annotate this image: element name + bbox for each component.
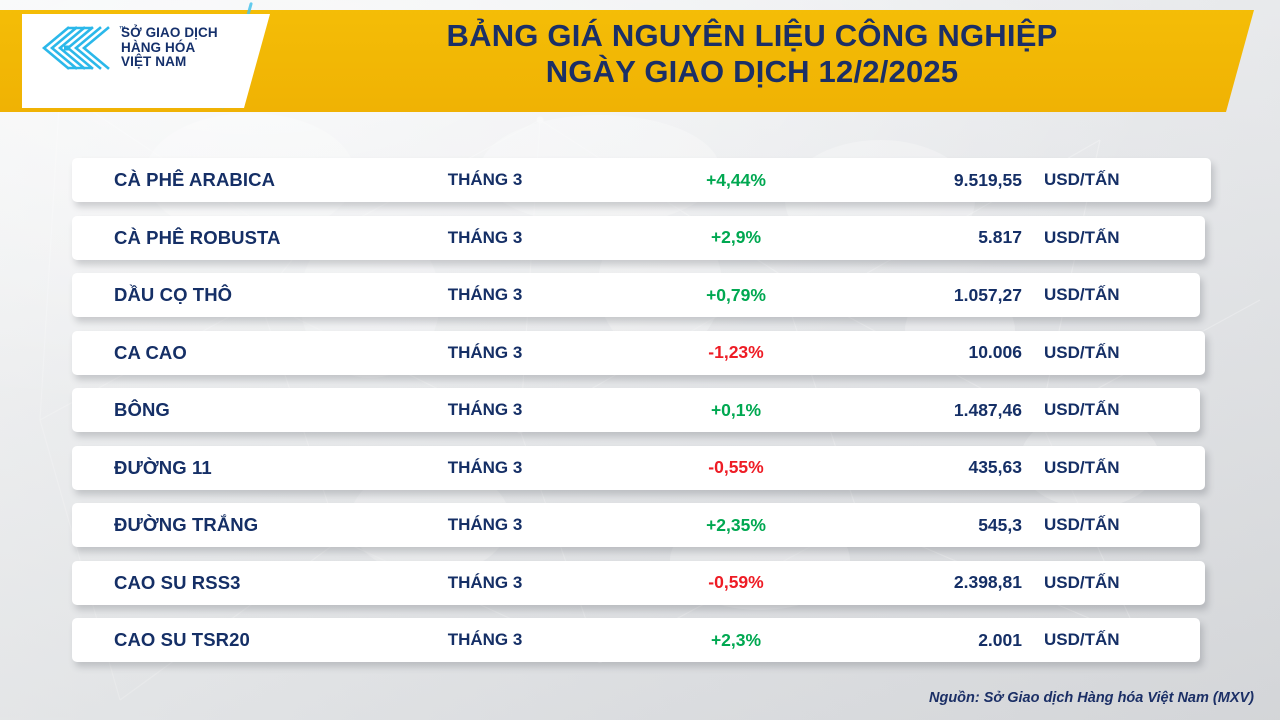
price-unit: USD/TẤN xyxy=(1044,515,1120,535)
contract-month: THÁNG 3 xyxy=(410,630,560,650)
header: ™ SỞ GIAO DỊCH HÀNG HÓA VIỆT NAM BẢNG GI… xyxy=(0,0,1280,122)
change-percent: +4,44% xyxy=(648,170,824,191)
commodity-name: CAO SU TSR20 xyxy=(114,629,250,651)
trademark-symbol: ™ xyxy=(119,26,126,33)
table-row[interactable]: BÔNGTHÁNG 3+0,1%1.487,46USD/TẤN xyxy=(72,388,1200,432)
price-value: 2.398,81 xyxy=(842,572,1022,593)
title-line-2: NGÀY GIAO DỊCH 12/2/2025 xyxy=(292,54,1212,90)
table-row[interactable]: CAO SU TSR20THÁNG 3+2,3%2.001USD/TẤN xyxy=(72,618,1200,662)
price-value: 1.487,46 xyxy=(842,400,1022,421)
change-percent: +2,9% xyxy=(648,227,824,248)
commodity-name: CA CAO xyxy=(114,342,187,364)
change-percent: -0,55% xyxy=(648,457,824,478)
commodity-name: ĐƯỜNG TRẮNG xyxy=(114,514,258,536)
price-value: 1.057,27 xyxy=(842,285,1022,306)
price-unit: USD/TẤN xyxy=(1044,458,1120,478)
brand-line-2: HÀNG HÓA xyxy=(121,41,218,56)
contract-month: THÁNG 3 xyxy=(410,458,560,478)
table-row[interactable]: ĐƯỜNG 11THÁNG 3-0,55%435,63USD/TẤN xyxy=(72,446,1205,490)
brand-line-1: SỞ GIAO DỊCH xyxy=(121,26,218,41)
contract-month: THÁNG 3 xyxy=(410,515,560,535)
price-value: 2.001 xyxy=(842,630,1022,651)
price-value: 545,3 xyxy=(842,515,1022,536)
price-unit: USD/TẤN xyxy=(1044,630,1120,650)
contract-month: THÁNG 3 xyxy=(410,228,560,248)
commodity-name: CAO SU RSS3 xyxy=(114,572,241,594)
price-value: 435,63 xyxy=(842,457,1022,478)
table-row[interactable]: ĐƯỜNG TRẮNGTHÁNG 3+2,35%545,3USD/TẤN xyxy=(72,503,1200,547)
mxv-chevron-maze-logo-icon xyxy=(38,24,114,72)
contract-month: THÁNG 3 xyxy=(410,573,560,593)
table-row[interactable]: CÀ PHÊ ROBUSTATHÁNG 3+2,9%5.817USD/TẤN xyxy=(72,216,1205,260)
commodity-name: ĐƯỜNG 11 xyxy=(114,457,212,479)
price-unit: USD/TẤN xyxy=(1044,285,1120,305)
commodity-name: CÀ PHÊ ARABICA xyxy=(114,169,275,191)
price-unit: USD/TẤN xyxy=(1044,573,1120,593)
commodity-name: CÀ PHÊ ROBUSTA xyxy=(114,227,281,249)
change-percent: +2,3% xyxy=(648,630,824,651)
change-percent: -0,59% xyxy=(648,572,824,593)
brand-logo[interactable]: ™ SỞ GIAO DỊCH HÀNG HÓA VIỆT NAM xyxy=(38,24,218,72)
price-value: 5.817 xyxy=(842,227,1022,248)
title-line-1: BẢNG GIÁ NGUYÊN LIỆU CÔNG NGHIỆP xyxy=(292,18,1212,54)
contract-month: THÁNG 3 xyxy=(410,400,560,420)
price-table: CÀ PHÊ ARABICATHÁNG 3+4,44%9.519,55USD/T… xyxy=(0,158,1280,676)
price-board-page: ™ SỞ GIAO DỊCH HÀNG HÓA VIỆT NAM BẢNG GI… xyxy=(0,0,1280,720)
contract-month: THÁNG 3 xyxy=(410,343,560,363)
contract-month: THÁNG 3 xyxy=(410,170,560,190)
commodity-name: BÔNG xyxy=(114,399,170,421)
page-title: BẢNG GIÁ NGUYÊN LIỆU CÔNG NGHIỆP NGÀY GI… xyxy=(292,18,1212,90)
price-unit: USD/TẤN xyxy=(1044,343,1120,363)
commodity-name: DẦU CỌ THÔ xyxy=(114,284,232,306)
change-percent: +2,35% xyxy=(648,515,824,536)
price-unit: USD/TẤN xyxy=(1044,228,1120,248)
table-row[interactable]: CÀ PHÊ ARABICATHÁNG 3+4,44%9.519,55USD/T… xyxy=(72,158,1211,202)
contract-month: THÁNG 3 xyxy=(410,285,560,305)
price-unit: USD/TẤN xyxy=(1044,400,1120,420)
source-note: Nguồn: Sở Giao dịch Hàng hóa Việt Nam (M… xyxy=(929,690,1254,706)
table-row[interactable]: CA CAOTHÁNG 3-1,23%10.006USD/TẤN xyxy=(72,331,1205,375)
brand-name: SỞ GIAO DỊCH HÀNG HÓA VIỆT NAM xyxy=(121,26,218,70)
change-percent: +0,79% xyxy=(648,285,824,306)
table-row[interactable]: DẦU CỌ THÔTHÁNG 3+0,79%1.057,27USD/TẤN xyxy=(72,273,1200,317)
price-value: 10.006 xyxy=(842,342,1022,363)
table-row[interactable]: CAO SU RSS3THÁNG 3-0,59%2.398,81USD/TẤN xyxy=(72,561,1205,605)
price-unit: USD/TẤN xyxy=(1044,170,1120,190)
change-percent: -1,23% xyxy=(648,342,824,363)
brand-line-3: VIỆT NAM xyxy=(121,55,218,70)
price-value: 9.519,55 xyxy=(842,170,1022,191)
change-percent: +0,1% xyxy=(648,400,824,421)
